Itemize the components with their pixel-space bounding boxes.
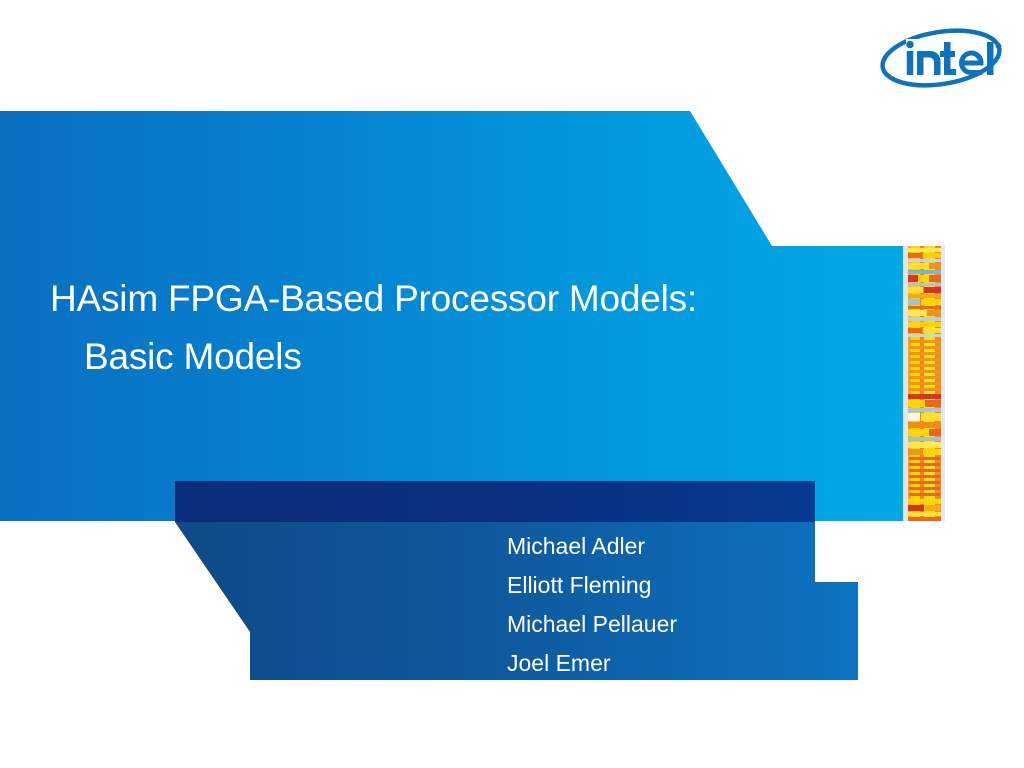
authors-navy-band [175,481,815,522]
author-name: Michael Pellauer [507,605,847,644]
title-line-1: HAsim FPGA-Based Processor Models: [50,270,880,328]
title-line-2: Basic Models [50,328,880,386]
author-list: Michael Adler Elliott Fleming Michael Pe… [507,527,847,683]
slide-canvas: R HAsim FPGA-Based Processor Models: Bas… [0,0,1024,768]
slide-title: HAsim FPGA-Based Processor Models: Basic… [50,270,880,386]
intel-logo: R [876,22,1006,94]
author-name: Elliott Fleming [507,566,847,605]
author-name: Michael Adler [507,527,847,566]
author-name: Joel Emer [507,644,847,683]
